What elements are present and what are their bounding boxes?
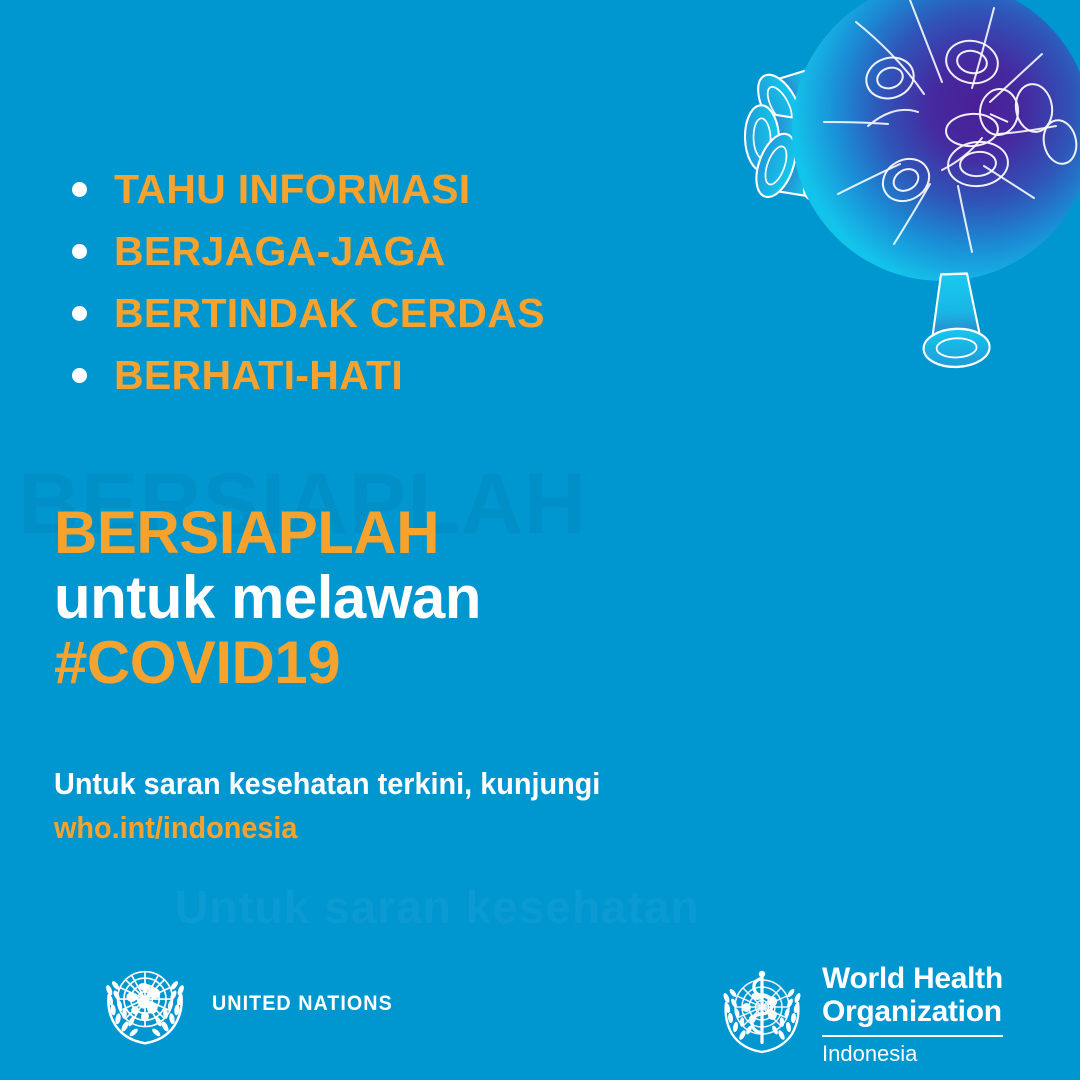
bullet-dot-icon [72,306,87,321]
who-line-2: Organization [822,995,1003,1028]
list-item: TAHU INFORMASI [72,158,692,220]
who-logo-text: World Health Organization Indonesia [822,958,1003,1066]
key-actions-list: TAHU INFORMASI BERJAGA-JAGA BERTINDAK CE… [72,158,692,406]
headline-hashtag: #COVID19 [54,630,481,695]
bullet-dot-icon [72,244,87,259]
headline-line-2: untuk melawan [54,565,481,630]
poster-canvas: BERSIAPLAH Untuk saran kesehatan [0,0,1080,1080]
bullet-label: BERJAGA-JAGA [114,231,446,272]
un-emblem-icon [96,955,194,1053]
who-line-1: World Health [822,962,1003,995]
who-emblem-icon [712,960,812,1060]
bullet-label: TAHU INFORMASI [114,169,470,210]
who-country-label: Indonesia [822,1042,1003,1066]
advice-text: Untuk saran kesehatan terkini, kunjungi [54,762,600,806]
headline-line-1: BERSIAPLAH [54,500,481,565]
list-item: BERHATI-HATI [72,344,692,406]
who-logo: World Health Organization Indonesia [712,958,1003,1066]
who-divider [822,1035,1003,1037]
bullet-dot-icon [72,182,87,197]
page-title: BERSIAPLAH untuk melawan #COVID19 [54,500,481,695]
advice-url-link[interactable]: who.int/indonesia [54,806,600,850]
coronavirus-illustration [642,0,1080,486]
list-item: BERTINDAK CERDAS [72,282,692,344]
advice-block: Untuk saran kesehatan terkini, kunjungi … [54,762,641,850]
un-logo-label: UNITED NATIONS [212,992,393,1016]
united-nations-logo: UNITED NATIONS [96,955,404,1053]
bullet-dot-icon [72,368,87,383]
bullet-label: BERTINDAK CERDAS [114,293,545,334]
bullet-label: BERHATI-HATI [114,355,403,396]
watermark-text-bottom: Untuk saran kesehatan [175,880,700,934]
list-item: BERJAGA-JAGA [72,220,692,282]
